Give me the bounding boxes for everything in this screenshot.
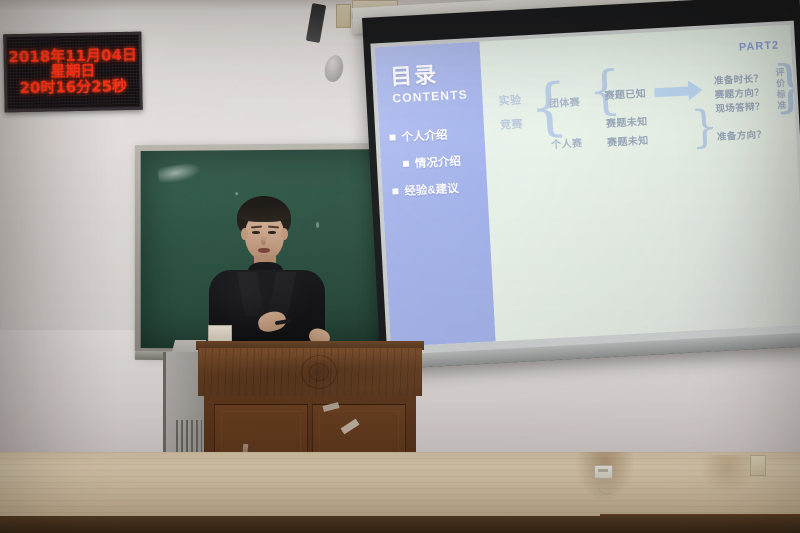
led-clock: 2018年11月04日 星期日 20时16分25秒 xyxy=(3,32,142,113)
outlet-cord xyxy=(598,477,613,494)
contents-item-1: 个人介绍 xyxy=(389,125,485,146)
hair-fringe xyxy=(238,205,290,222)
wall-junction-box xyxy=(750,455,766,476)
diagram-branch-team: 团体赛 xyxy=(548,93,580,110)
ear-left xyxy=(241,228,248,240)
screen-surface: 目录 CONTENTS 个人介绍 情况介绍 经验&建议 xyxy=(370,21,800,361)
chalk-dot xyxy=(235,192,238,195)
diagram-root-line2: 竞赛 xyxy=(500,115,524,132)
floor-stain-2 xyxy=(700,455,755,495)
flow-arrow-icon xyxy=(688,80,703,101)
diagram-branch-individual: 个人赛 xyxy=(551,134,583,151)
contents-item-2: 情况介绍 xyxy=(403,152,487,172)
podium-emblem xyxy=(301,355,337,389)
contents-item-label: 情况介绍 xyxy=(415,153,462,171)
flow-arrow-body xyxy=(654,86,690,97)
wall-switch[interactable] xyxy=(336,4,351,28)
square-bullet-icon xyxy=(389,134,395,140)
eye-right xyxy=(268,231,276,234)
brace-individual: } xyxy=(689,105,719,150)
diagram-topic-unknown-individual: 赛题未知 xyxy=(607,132,649,149)
square-bullet-icon xyxy=(392,188,398,194)
projection-screen: 目录 CONTENTS 个人介绍 情况介绍 经验&建议 xyxy=(362,0,800,369)
slide-title-en: CONTENTS xyxy=(392,87,483,106)
contents-item-label: 个人介绍 xyxy=(401,127,448,145)
slide-diagram: 实验 竞赛 { 团体赛 个人赛 { 赛题已知 赛题未知 赛题未知 准备时长？ 赛… xyxy=(479,25,800,341)
diagram-question-3: 现场答辩？ xyxy=(715,98,765,115)
contents-item-3: 经验&建议 xyxy=(392,178,488,199)
slide-title-cn: 目录 xyxy=(390,62,482,89)
clock-time: 20时16分25秒 xyxy=(19,79,127,96)
slide-left-panel: 目录 CONTENTS 个人介绍 情况介绍 经验&建议 xyxy=(375,42,496,347)
diagram-root-line1: 实验 xyxy=(498,92,522,109)
classroom-photo: 2018年11月04日 星期日 20时16分25秒 Marklood 目录 CO… xyxy=(0,0,800,533)
presentation-slide: 目录 CONTENTS 个人介绍 情况介绍 经验&建议 xyxy=(375,25,800,347)
chalk-smudge xyxy=(157,161,202,185)
floor-front-edge xyxy=(0,516,800,533)
square-bullet-icon xyxy=(403,161,409,167)
diagram-evaluation-label: 评价标准 xyxy=(773,67,788,112)
eye-left xyxy=(252,231,260,234)
nose xyxy=(261,236,266,245)
contents-item-label: 经验&建议 xyxy=(404,180,459,199)
ear-right xyxy=(281,228,288,240)
mouth xyxy=(258,248,270,253)
diagram-question-bottom: 准备方向？ xyxy=(717,126,767,143)
slide-contents-list: 个人介绍 情况介绍 经验&建议 xyxy=(379,125,488,201)
presenter xyxy=(196,196,336,346)
diagram-topic-known: 赛题已知 xyxy=(604,85,646,102)
diagram-topic-unknown-team: 赛题未知 xyxy=(606,113,648,130)
slide-right-panel: PART2 实验 竞赛 { 团体赛 个人赛 { 赛题已知 赛题未知 赛题未知 xyxy=(479,25,800,341)
